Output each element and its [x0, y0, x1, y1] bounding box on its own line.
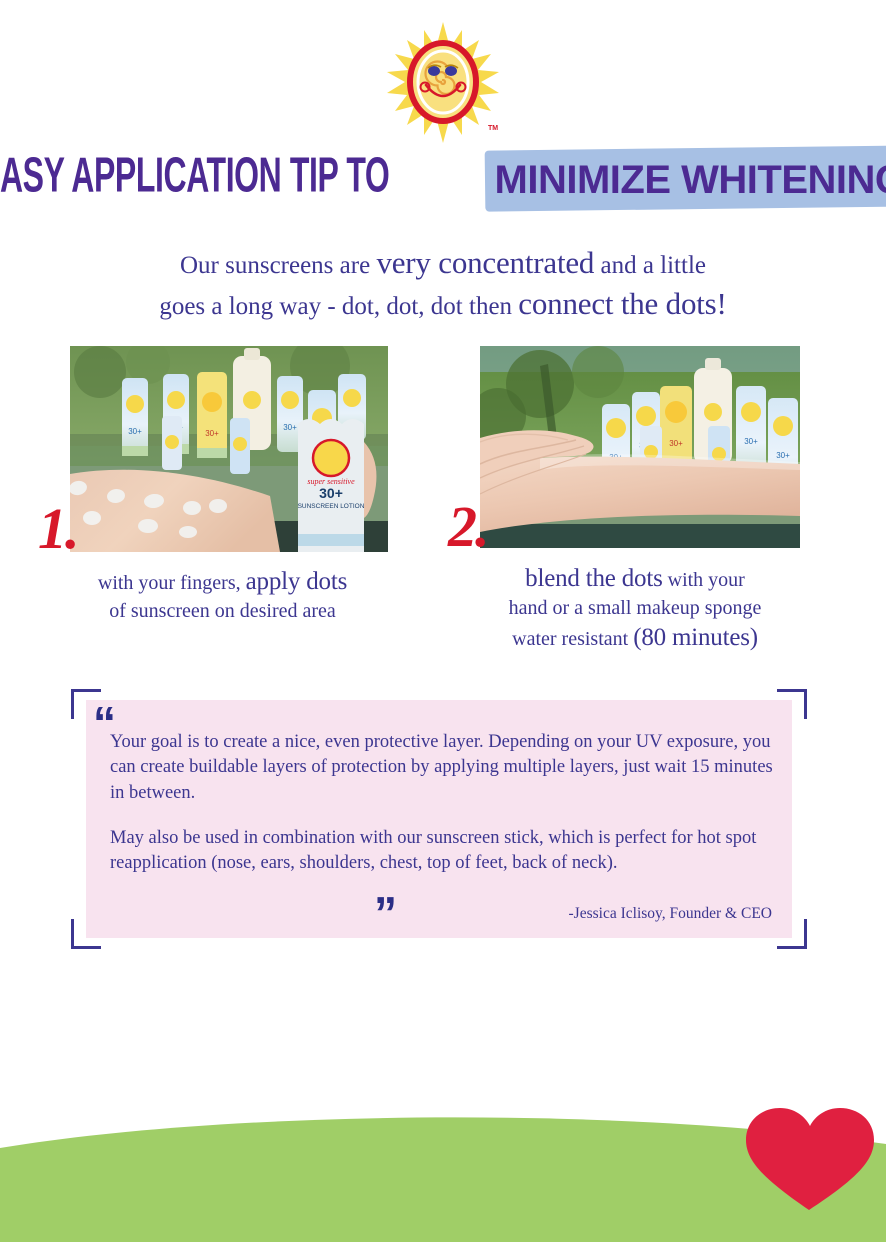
step-2-caption-line-3: water resistant (80 minutes): [440, 621, 830, 654]
svg-text:30+: 30+: [744, 437, 758, 446]
brand-logo: TM: [0, 18, 886, 146]
subtitle-line1-c: and a little: [594, 252, 706, 279]
step-1-caption-line-1: with your fingers, apply dots: [30, 565, 415, 598]
subtitle-line-2: goes a long way - dot, dot, dot then con…: [43, 284, 843, 325]
quote-bracket-top-right: [777, 689, 807, 719]
subtitle-line1-emphasis: very concentrated: [376, 245, 594, 280]
step-1-caption-line-2: of sunscreen on desired area: [30, 598, 415, 624]
svg-text:30+: 30+: [776, 451, 790, 460]
page-title-part1: EASY APPLICATION TIP TO: [0, 151, 389, 200]
step-1-caption: with your fingers, apply dots of sunscre…: [30, 565, 415, 624]
svg-text:30+: 30+: [283, 423, 297, 432]
svg-text:SUNSCREEN LOTION: SUNSCREEN LOTION: [298, 503, 365, 510]
step-number-1: 1.: [38, 500, 78, 558]
photo-2-graphic: 30+ 30+ 30+ 30+: [480, 346, 800, 548]
step-1-caption-emphasis: apply dots: [246, 568, 347, 595]
sun-logo-icon: TM: [378, 18, 508, 146]
quote-bracket-bottom-right: [777, 919, 807, 949]
step-2-caption-line-2: hand or a small makeup sponge: [440, 595, 830, 621]
step-number-2: 2.: [448, 498, 488, 556]
page-title-highlight-wrap: MINIMIZE WHITENING: [493, 160, 886, 200]
step-2-caption-duration: (80 minutes): [633, 624, 758, 651]
step-1-caption-a: with your fingers,: [98, 572, 246, 594]
step-2-caption-b: with your: [663, 569, 745, 591]
step-2-caption-emphasis: blend the dots: [525, 565, 662, 592]
subtitle-line2-emphasis: connect the dots!: [518, 286, 726, 321]
svg-text:30+: 30+: [128, 427, 142, 436]
page-title: EASY APPLICATION TIP TO MINIMIZE WHITENI…: [0, 160, 886, 200]
quote-bracket-bottom-left: [71, 919, 101, 949]
step-2-caption-d: water resistant: [512, 628, 633, 650]
photo-1-graphic: 30+ 30+ 30+: [70, 346, 388, 552]
svg-text:30+: 30+: [669, 439, 683, 448]
photo-sunscreen-dots-on-arm: 30+ 30+ 30+: [70, 346, 388, 552]
svg-text:super sensitive: super sensitive: [307, 477, 355, 486]
page-title-highlight: MINIMIZE WHITENING: [495, 158, 886, 202]
svg-text:30+: 30+: [319, 485, 343, 501]
step-2-caption-line-1: blend the dots with your: [440, 562, 830, 595]
footer-graphic: [0, 1082, 886, 1242]
subtitle-line2-a: goes a long way - dot, dot, dot then: [159, 293, 518, 320]
footer-decoration: [0, 1082, 886, 1242]
svg-text:30+: 30+: [205, 429, 219, 438]
subtitle-line1-a: Our sunscreens are: [180, 252, 376, 279]
subtitle-line-1: Our sunscreens are very concentrated and…: [43, 243, 843, 284]
quote-attribution: -Jessica Iclisoy, Founder & CEO: [300, 905, 772, 923]
logo-tm-mark: TM: [488, 125, 498, 132]
step-2-caption: blend the dots with your hand or a small…: [440, 562, 830, 654]
photo-blending-sunscreen-on-arm: 30+ 30+ 30+ 30+: [480, 346, 800, 548]
quote-paragraph-1: Your goal is to create a nice, even prot…: [110, 730, 785, 806]
quote-text: Your goal is to create a nice, even prot…: [110, 730, 785, 877]
quote-paragraph-2: May also be used in combination with our…: [110, 826, 785, 877]
subtitle: Our sunscreens are very concentrated and…: [43, 243, 843, 325]
flyer-page: TM EASY APPLICATION TIP TO MINIMIZE WHIT…: [0, 0, 886, 1242]
